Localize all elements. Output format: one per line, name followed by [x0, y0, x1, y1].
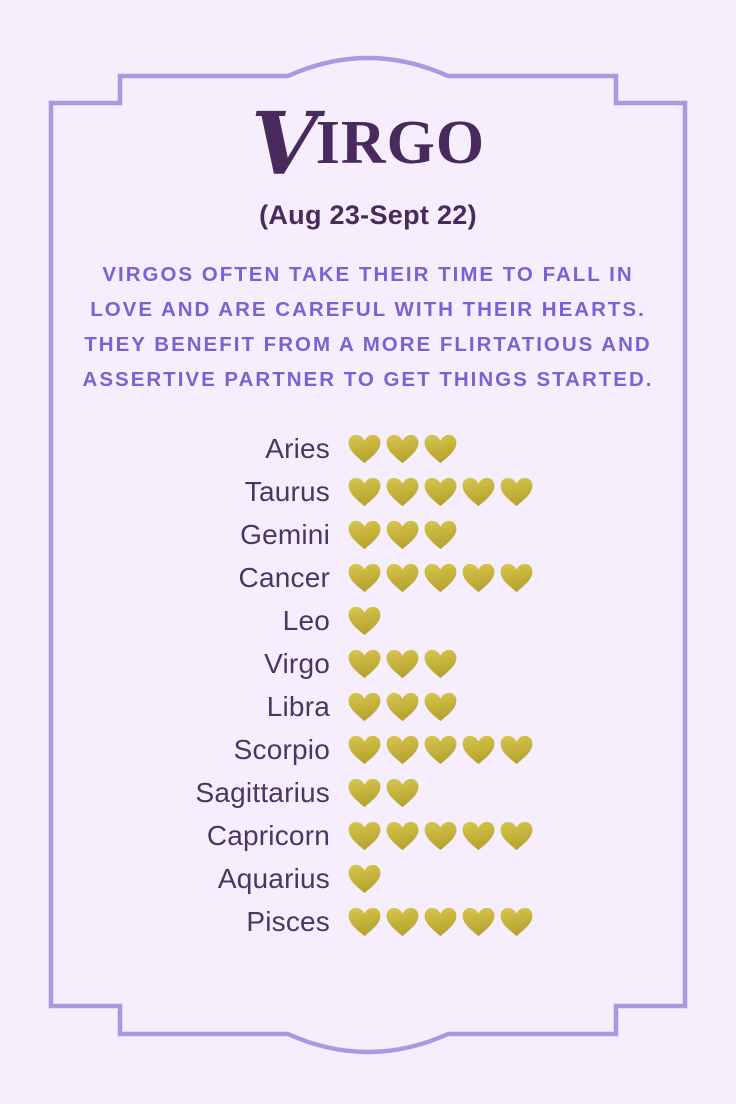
heart-icon	[500, 477, 533, 507]
compatibility-row: Libra	[0, 685, 736, 728]
heart-icon	[386, 778, 419, 808]
heart-icon	[424, 520, 457, 550]
heart-icon	[348, 520, 381, 550]
heart-icon	[348, 907, 381, 937]
sign-label: Taurus	[0, 476, 348, 508]
heart-icon	[424, 907, 457, 937]
sign-label: Pisces	[0, 906, 348, 938]
heart-icon	[348, 477, 381, 507]
sign-label: Capricorn	[0, 820, 348, 852]
heart-rating	[348, 649, 457, 679]
heart-icon	[386, 520, 419, 550]
heart-rating	[348, 563, 533, 593]
heart-rating	[348, 864, 381, 894]
heart-rating	[348, 821, 533, 851]
heart-icon	[386, 434, 419, 464]
heart-icon	[500, 907, 533, 937]
date-range: (Aug 23-Sept 22)	[259, 200, 477, 231]
compatibility-row: Sagittarius	[0, 771, 736, 814]
heart-icon	[348, 778, 381, 808]
description-text: Virgos often take their time to fall in …	[78, 257, 658, 397]
compatibility-row: Pisces	[0, 900, 736, 943]
heart-icon	[348, 563, 381, 593]
heart-rating	[348, 434, 457, 464]
heart-icon	[424, 821, 457, 851]
heart-icon	[386, 692, 419, 722]
compatibility-row: Aries	[0, 427, 736, 470]
heart-icon	[348, 606, 381, 636]
heart-icon	[424, 692, 457, 722]
sign-label: Aries	[0, 433, 348, 465]
sign-label: Virgo	[0, 648, 348, 680]
compatibility-row: Scorpio	[0, 728, 736, 771]
sign-label: Leo	[0, 605, 348, 637]
sign-label: Cancer	[0, 562, 348, 594]
title-rest: IRGO	[316, 112, 485, 174]
heart-rating	[348, 735, 533, 765]
heart-icon	[386, 907, 419, 937]
sign-label: Gemini	[0, 519, 348, 551]
heart-rating	[348, 606, 381, 636]
heart-icon	[500, 821, 533, 851]
heart-rating	[348, 907, 533, 937]
heart-icon	[386, 735, 419, 765]
sign-label: Libra	[0, 691, 348, 723]
heart-rating	[348, 477, 533, 507]
compatibility-row: Leo	[0, 599, 736, 642]
heart-icon	[462, 735, 495, 765]
compatibility-row: Taurus	[0, 470, 736, 513]
heart-icon	[500, 735, 533, 765]
heart-icon	[386, 821, 419, 851]
sign-label: Sagittarius	[0, 777, 348, 809]
heart-icon	[386, 477, 419, 507]
heart-icon	[500, 563, 533, 593]
sign-label: Scorpio	[0, 734, 348, 766]
heart-rating	[348, 778, 419, 808]
heart-icon	[424, 434, 457, 464]
compatibility-row: Capricorn	[0, 814, 736, 857]
heart-icon	[348, 735, 381, 765]
compatibility-row: Cancer	[0, 556, 736, 599]
heart-icon	[348, 649, 381, 679]
heart-icon	[424, 649, 457, 679]
heart-icon	[386, 563, 419, 593]
zodiac-compatibility-card: VIRGO (Aug 23-Sept 22) Virgos often take…	[0, 0, 736, 1104]
title-initial-v: V	[251, 102, 316, 188]
heart-rating	[348, 520, 457, 550]
compatibility-row: Aquarius	[0, 857, 736, 900]
heart-icon	[348, 864, 381, 894]
heart-icon	[462, 477, 495, 507]
heart-icon	[424, 735, 457, 765]
heart-rating	[348, 692, 457, 722]
heart-icon	[424, 477, 457, 507]
compatibility-list: AriesTaurusGeminiCancerLeoVirgoLibraScor…	[0, 427, 736, 943]
heart-icon	[462, 907, 495, 937]
heart-icon	[462, 821, 495, 851]
compatibility-row: Gemini	[0, 513, 736, 556]
compatibility-row: Virgo	[0, 642, 736, 685]
heart-icon	[348, 434, 381, 464]
sign-label: Aquarius	[0, 863, 348, 895]
page-title: VIRGO	[251, 104, 485, 182]
heart-icon	[348, 692, 381, 722]
heart-icon	[348, 821, 381, 851]
heart-icon	[462, 563, 495, 593]
heart-icon	[424, 563, 457, 593]
heart-icon	[386, 649, 419, 679]
